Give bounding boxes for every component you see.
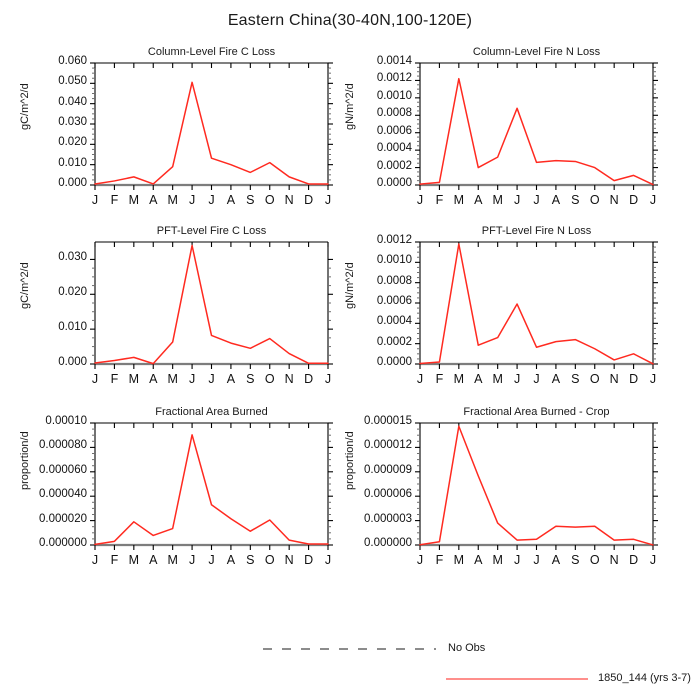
- y-tick-label: 0.000006: [347, 488, 412, 500]
- y-tick-label: 0.000015: [347, 415, 412, 427]
- y-tick-label: 0.000003: [347, 513, 412, 525]
- figure-root: Eastern China(30-40N,100-120E) Column-Le…: [0, 0, 700, 700]
- y-tick-label: 0.000009: [347, 464, 412, 476]
- y-tick-label: 0.000012: [347, 439, 412, 451]
- chart-canvas: [0, 0, 700, 700]
- chart-subtitle: Fractional Area Burned - Crop: [420, 406, 653, 418]
- y-tick-label: 0.000000: [347, 537, 412, 549]
- data-series-line: [420, 426, 653, 545]
- x-tick-label: J: [641, 553, 665, 567]
